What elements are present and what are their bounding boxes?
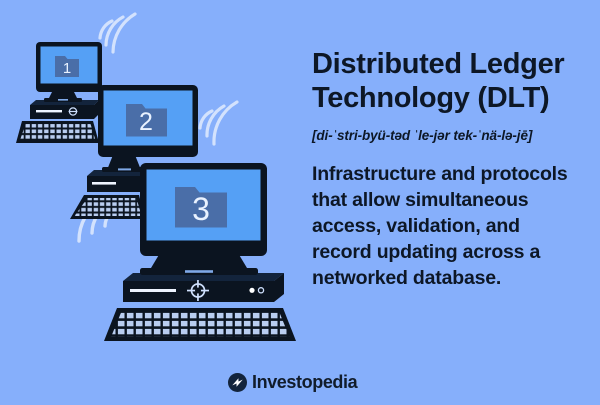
computer-3-indicator-led-on [249, 288, 254, 293]
computer-3-folder-icon: 3 [175, 187, 227, 228]
title-line-1: Distributed Ledger [312, 48, 564, 80]
computer-3-monitor: 3 [140, 163, 267, 256]
title-line-2: Technology (DLT) [312, 82, 549, 114]
definition-body: Infrastructure and protocols that allow … [312, 162, 584, 292]
computer-2-keyboard [70, 195, 145, 219]
computer-3-keyboard [104, 308, 296, 341]
computer-3-tower [123, 273, 284, 302]
computer-1-tower [30, 100, 99, 119]
investopedia-logo[interactable]: Investopedia [228, 372, 357, 393]
definition-panel: Distributed Ledger Technology (DLT) [di-… [312, 48, 584, 292]
computer-2-folder-label: 2 [139, 108, 153, 136]
infographic-canvas: 1 [0, 0, 600, 405]
computer-1-folder-icon: 1 [55, 56, 79, 77]
pronunciation: [di-ˈstri-byü-təd ˈle-jər tek-ˈnä-lə-jē] [312, 128, 584, 143]
wifi-arcs-computer-2 [200, 102, 237, 144]
computer-1-folder-label: 1 [63, 60, 71, 77]
computer-1: 1 [16, 42, 102, 143]
page-title: Distributed Ledger Technology (DLT) [312, 48, 584, 115]
computer-1-monitor: 1 [36, 42, 102, 92]
computer-3-folder-label: 3 [192, 191, 210, 227]
computer-2-folder-icon: 2 [126, 104, 167, 137]
illustration-three-networked-computers: 1 [0, 0, 300, 405]
investopedia-wordmark: Investopedia [252, 372, 357, 393]
computer-1-keyboard [16, 121, 99, 143]
computer-3-stand [140, 253, 258, 275]
computer-2-monitor: 2 [98, 85, 198, 157]
wifi-arcs-computer-1 [100, 14, 135, 52]
investopedia-logo-mark [228, 373, 247, 392]
